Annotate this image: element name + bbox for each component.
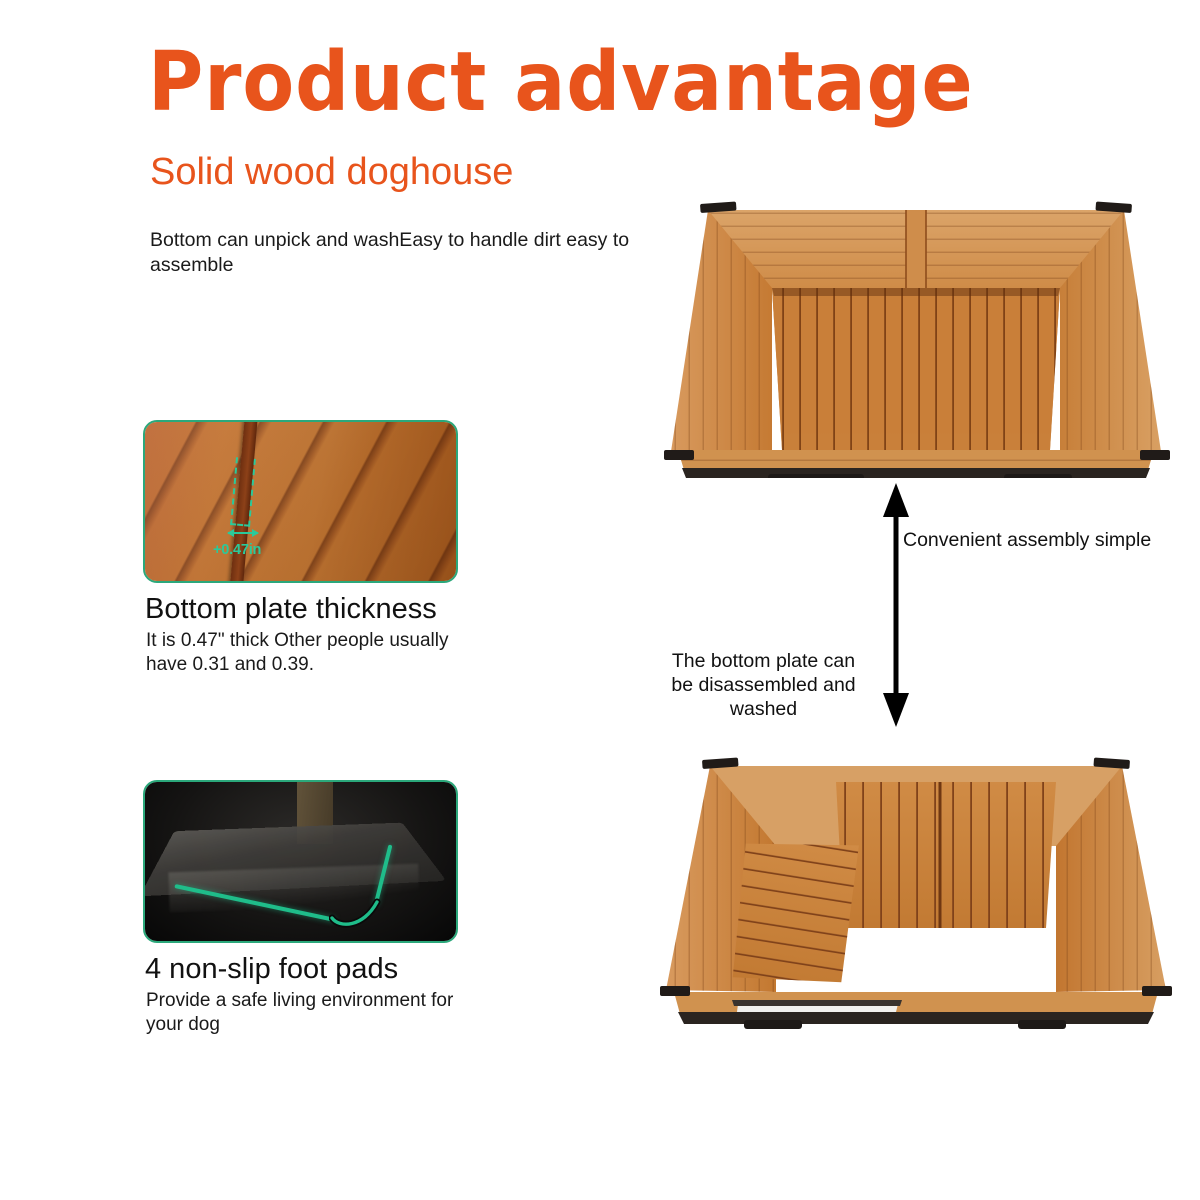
annotation-wash-line-1: The bottom plate can	[641, 650, 886, 674]
feature-non-slip-foot-pads: 4 non-slip foot pads Provide a safe livi…	[143, 780, 473, 1037]
feature-desc-thickness: It is 0.47" thick Other people usually h…	[143, 629, 469, 677]
product-photo-doghouse-assembled	[648, 188, 1184, 478]
intro-text: Bottom can unpick and washEasy to handle…	[150, 228, 650, 278]
feature-title-thickness: Bottom plate thickness	[143, 594, 473, 624]
annotation-assembly-label: Convenient assembly simple	[903, 529, 1151, 552]
product-photo-doghouse-floor-removed	[648, 742, 1184, 1052]
annotation-wash-line-2: be disassembled and washed	[641, 674, 886, 722]
thickness-photo-card: +0.47in	[143, 420, 458, 583]
feature-title-footpads: 4 non-slip foot pads	[143, 954, 473, 984]
product-advantage-infographic: Product advantage Solid wood doghouse Bo…	[0, 0, 1200, 1200]
wood-plank-macro-photo	[145, 422, 456, 581]
page-title: Product advantage	[148, 42, 974, 124]
annotation-curve-icon	[329, 888, 395, 928]
feature-desc-footpads: Provide a safe living environment for yo…	[143, 989, 469, 1037]
thickness-measurement-label: +0.47in	[213, 542, 261, 558]
feature-bottom-plate-thickness: +0.47in Bottom plate thickness It is 0.4…	[143, 420, 473, 677]
annotation-wash-label: The bottom plate can be disassembled and…	[641, 650, 886, 721]
footpad-photo-card	[143, 780, 458, 943]
foot-pad-macro-photo	[145, 782, 456, 941]
dimension-arrow-icon	[228, 532, 258, 534]
page-subtitle: Solid wood doghouse	[150, 152, 513, 194]
